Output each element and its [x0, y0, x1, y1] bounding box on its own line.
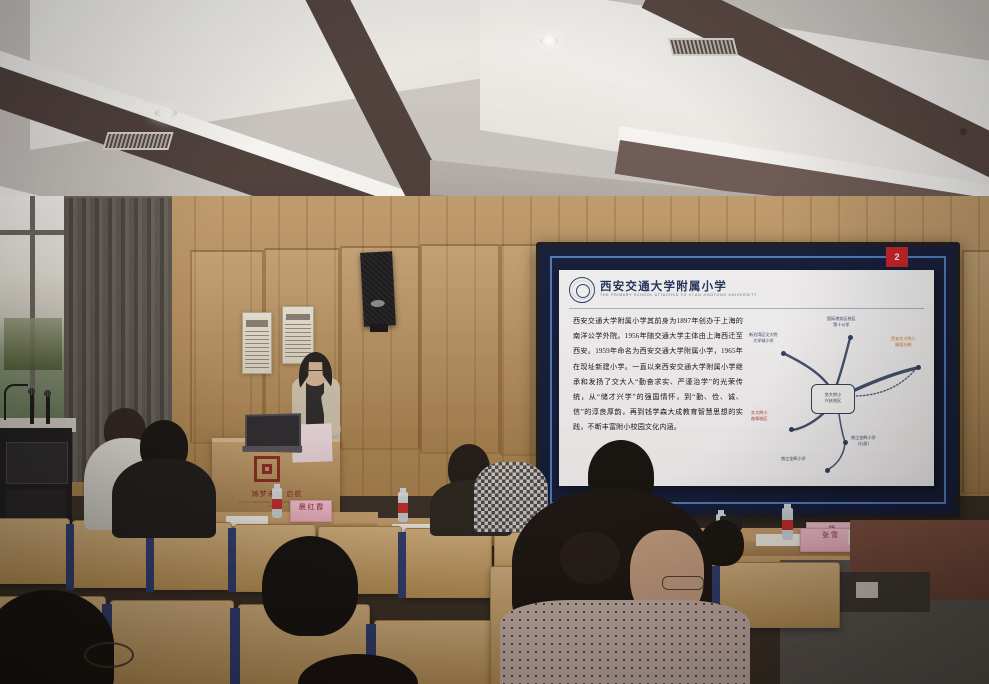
- presentation-photo-scene: 2 西安交通大学附属小学 THE PRIMARY SCHOOL ATTACHED…: [0, 0, 989, 684]
- attendee-foreground-bun-knot: [560, 532, 620, 584]
- slide-mindmap-diagram: 交大附小兴庆校区 新泊湾区交大附大学城小学 国际港务区校区第十公学 西安交大附小…: [751, 310, 931, 482]
- wall-panel-5: [500, 244, 538, 456]
- chair-frame-r2-b: [230, 608, 240, 684]
- mindmap-node-dot-4: [789, 427, 794, 432]
- wall-panel-4: [420, 244, 500, 454]
- under-table-shadow: [838, 572, 930, 612]
- microphone-1[interactable]: [30, 394, 34, 424]
- wall-panel-6: [962, 250, 989, 494]
- mindmap-node-label-2: 国际港务区校区第十公学: [827, 316, 856, 327]
- school-seal-logo: [569, 277, 595, 303]
- slide-subtitle: THE PRIMARY SCHOOL ATTACHED TO XI'AN JIA…: [600, 293, 757, 297]
- slide-title: 西安交通大学附属小学: [600, 278, 727, 294]
- ceiling-sprinkler: [960, 128, 967, 135]
- av-control-console[interactable]: [0, 428, 72, 526]
- mindmap-node-dot-6: [825, 468, 830, 473]
- ceiling-downlight-1: [155, 108, 177, 118]
- gooseneck-microphone[interactable]: [4, 384, 28, 420]
- water-bottle-4[interactable]: [782, 508, 793, 540]
- slide-body-text: 西安交通大学附属小学其前身为1897年创办于上海的南洋公学外院。1956年随交通…: [573, 314, 743, 436]
- presenter-laptop-base[interactable]: [242, 446, 302, 452]
- attendee-foreground-bun-blouse: [500, 600, 750, 684]
- ceiling-air-vent-1: [102, 132, 173, 150]
- mindmap-node-dot-3: [916, 365, 921, 370]
- attendee-front-left-black-body: [112, 458, 216, 538]
- ceiling-air-vent-2: [668, 38, 738, 56]
- attendee-foreground-left-glasses: [84, 642, 134, 668]
- name-card-center: 晨 红 霞: [290, 500, 332, 522]
- speaker-badge: [371, 300, 385, 308]
- attendee-mid-center-head: [262, 536, 358, 636]
- equipment-under-table: [856, 582, 878, 598]
- mindmap-node-label-3: 西安交大附小雁塔分校: [891, 336, 916, 347]
- chair-r1-c6[interactable]: [404, 528, 492, 598]
- chair-frame-r1-c: [228, 528, 236, 592]
- presenter-glasses: [305, 370, 324, 376]
- chair-r1-c1[interactable]: [0, 518, 70, 584]
- ceiling-downlight-3: [540, 36, 558, 45]
- attendee-foreground-bun-glasses: [662, 576, 704, 590]
- chair-frame-r1-a: [66, 524, 74, 590]
- microphone-2[interactable]: [46, 396, 50, 424]
- mindmap-node-label-4: 交大附小曲翠校区: [751, 410, 767, 421]
- mindmap-node-label-6: 南江金辉小学: [781, 456, 806, 462]
- wall-mounted-speaker: [360, 251, 396, 327]
- wall-poster-left: [242, 312, 272, 374]
- mindmap-node-dot-1: [781, 351, 786, 356]
- chair-r2-c2[interactable]: [110, 600, 234, 684]
- slide-page-badge: 2: [886, 247, 908, 267]
- name-card-center-text: 晨 红 霞: [291, 501, 331, 512]
- school-square-emblem: [254, 456, 280, 482]
- speaker-mount-arm: [370, 324, 388, 332]
- mindmap-node-dot-5: [843, 440, 848, 445]
- mindmap-center-label: 交大附小兴庆校区: [812, 392, 854, 404]
- chair-frame-r1-d: [398, 532, 406, 598]
- mindmap-center-node: 交大附小兴庆校区: [811, 384, 855, 414]
- water-bottle-2[interactable]: [398, 492, 408, 522]
- mindmap-node-dot-2: [848, 335, 853, 340]
- mindmap-node-label-5: 南江金辉小学（分部）: [851, 435, 876, 446]
- water-bottle-1[interactable]: [272, 488, 282, 518]
- mindmap-node-label-1: 新泊湾区交大附大学城小学: [749, 332, 778, 343]
